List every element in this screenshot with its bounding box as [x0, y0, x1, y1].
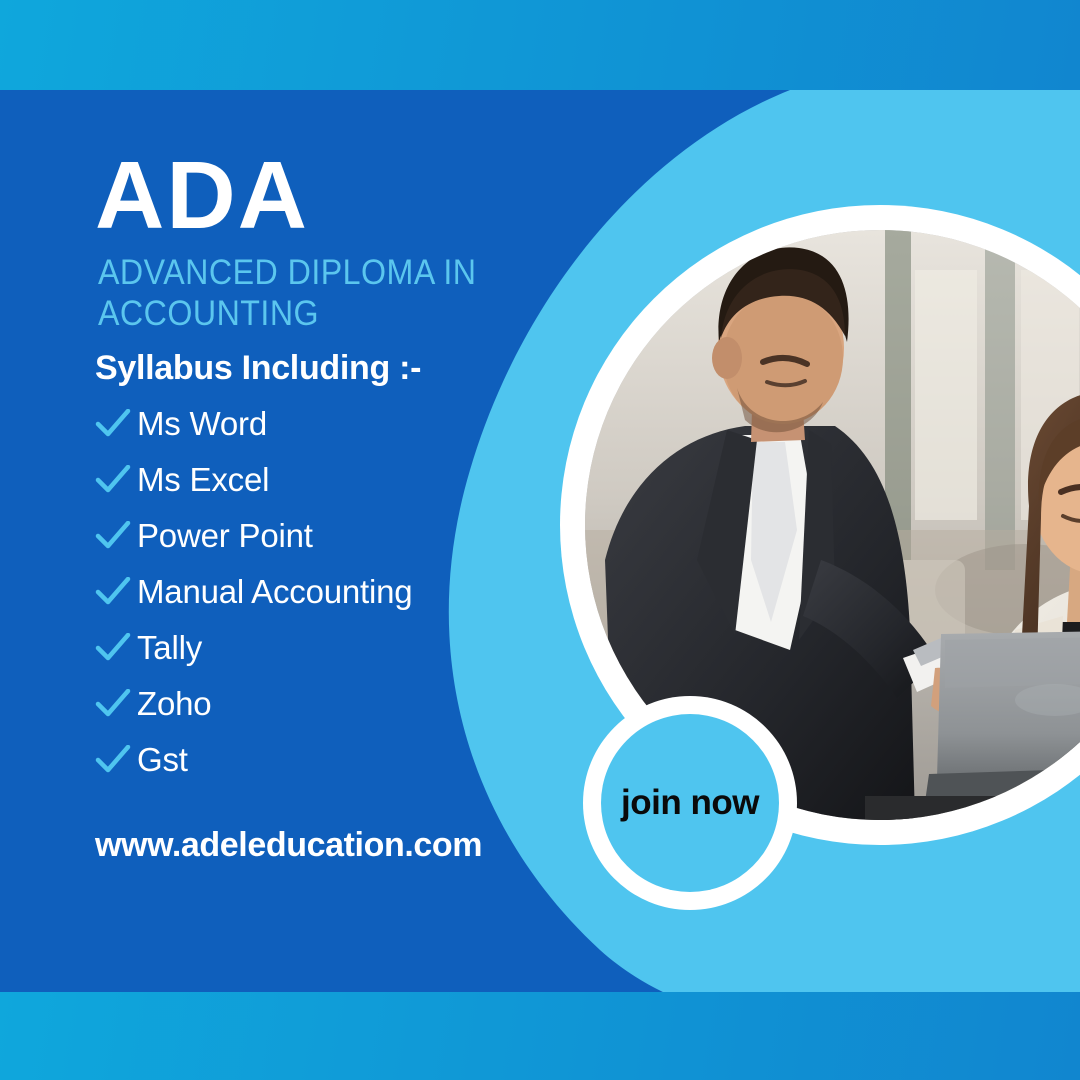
list-item: Ms Excel — [95, 460, 565, 500]
list-item: Power Point — [95, 516, 565, 556]
list-item-label: Tally — [137, 629, 202, 667]
list-item: Zoho — [95, 684, 565, 724]
syllabus-list: Ms Word Ms Excel Power Point — [95, 404, 565, 780]
check-icon — [95, 689, 131, 719]
check-icon — [95, 577, 131, 607]
list-item-label: Power Point — [137, 517, 313, 555]
list-item-label: Zoho — [137, 685, 211, 723]
list-item: Ms Word — [95, 404, 565, 444]
check-icon — [95, 633, 131, 663]
page-title: ADA — [95, 150, 565, 242]
check-icon — [95, 745, 131, 775]
syllabus-heading: Syllabus Including :- — [95, 349, 565, 388]
list-item: Manual Accounting — [95, 572, 565, 612]
join-now-label: join now — [621, 783, 759, 823]
list-item-label: Gst — [137, 741, 188, 779]
website-url[interactable]: www.adeleducation.com — [95, 826, 565, 865]
list-item: Gst — [95, 740, 565, 780]
list-item-label: Manual Accounting — [137, 573, 412, 611]
check-icon — [95, 409, 131, 439]
promo-poster: join now ADA ADVANCED DIPLOMA IN ACCOUNT… — [0, 0, 1080, 1080]
top-gradient-band — [0, 0, 1080, 90]
list-item-label: Ms Excel — [137, 461, 269, 499]
check-icon — [95, 521, 131, 551]
join-now-button[interactable]: join now — [601, 714, 779, 892]
bottom-gradient-band — [0, 992, 1080, 1080]
page-subtitle: ADVANCED DIPLOMA IN ACCOUNTING — [98, 252, 528, 335]
check-icon — [95, 465, 131, 495]
content-column: ADA ADVANCED DIPLOMA IN ACCOUNTING Sylla… — [95, 150, 565, 865]
list-item: Tally — [95, 628, 565, 668]
list-item-label: Ms Word — [137, 405, 267, 443]
